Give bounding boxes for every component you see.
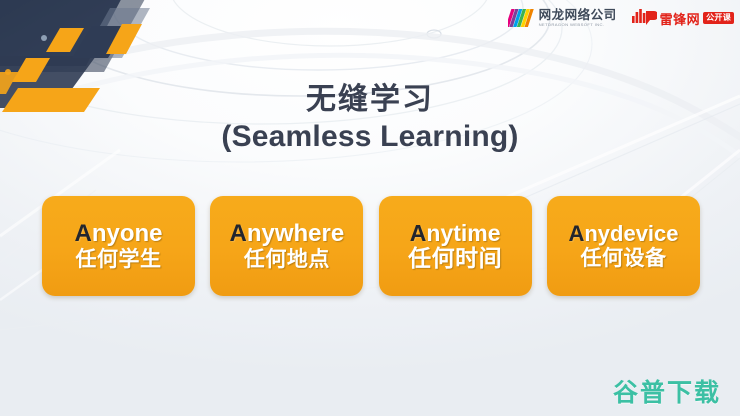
card-anywhere[interactable]: Anywhere 任何地点 <box>210 196 363 296</box>
slide-canvas: 网龙网络公司 NETDRAGON WEBSOFT INC. 雷锋网 公开课 无缝… <box>0 0 740 416</box>
title-block: 无缝学习 (Seamless Learning) <box>0 82 740 155</box>
card-anyone[interactable]: Anyone 任何学生 <box>42 196 195 296</box>
logo-bar: 网龙网络公司 NETDRAGON WEBSOFT INC. 雷锋网 公开课 <box>508 7 734 29</box>
netdragon-name-cn: 网龙网络公司 <box>539 9 617 22</box>
card-anytime[interactable]: Anytime 任何时间 <box>379 196 532 296</box>
card-anytime-en-rest: nytime <box>426 220 500 246</box>
card-anydevice-en: Anydevice <box>568 222 678 245</box>
card-anywhere-en-rest: nywhere <box>247 220 344 247</box>
card-anyone-initial: A <box>74 220 91 247</box>
leiphone-logo: 雷锋网 公开课 <box>631 8 734 28</box>
card-row: Anyone 任何学生 Anywhere 任何地点 Anytime 任何时间 A… <box>42 196 700 296</box>
watermark: 谷普下载 <box>613 381 721 406</box>
leiphone-name-cn: 雷锋网 <box>660 9 701 28</box>
card-anyone-en: Anyone <box>74 221 162 246</box>
card-anydevice-en-rest: nydevice <box>584 221 678 246</box>
card-anytime-en: Anytime <box>410 221 501 245</box>
leiphone-bars-icon <box>631 8 657 28</box>
card-anydevice-cn: 任何设备 <box>580 247 666 270</box>
card-anytime-initial: A <box>410 220 427 246</box>
card-anywhere-initial: A <box>229 220 246 247</box>
card-anyone-en-rest: nyone <box>92 220 163 247</box>
card-anytime-cn: 任何时间 <box>408 246 502 271</box>
page-title-en: (Seamless Learning) <box>0 119 740 154</box>
card-anydevice-initial: A <box>568 221 584 246</box>
card-anydevice[interactable]: Anydevice 任何设备 <box>547 196 700 296</box>
netdragon-name-en: NETDRAGON WEBSOFT INC. <box>539 23 617 27</box>
card-anywhere-en: Anywhere <box>229 221 344 246</box>
page-title-cn: 无缝学习 <box>0 82 740 117</box>
card-anywhere-cn: 任何地点 <box>244 248 330 271</box>
netdragon-logo: 网龙网络公司 NETDRAGON WEBSOFT INC. <box>508 7 617 29</box>
card-anyone-cn: 任何学生 <box>76 248 162 271</box>
leiphone-badge: 公开课 <box>703 12 734 24</box>
rainbow-stripes-icon <box>508 7 534 29</box>
